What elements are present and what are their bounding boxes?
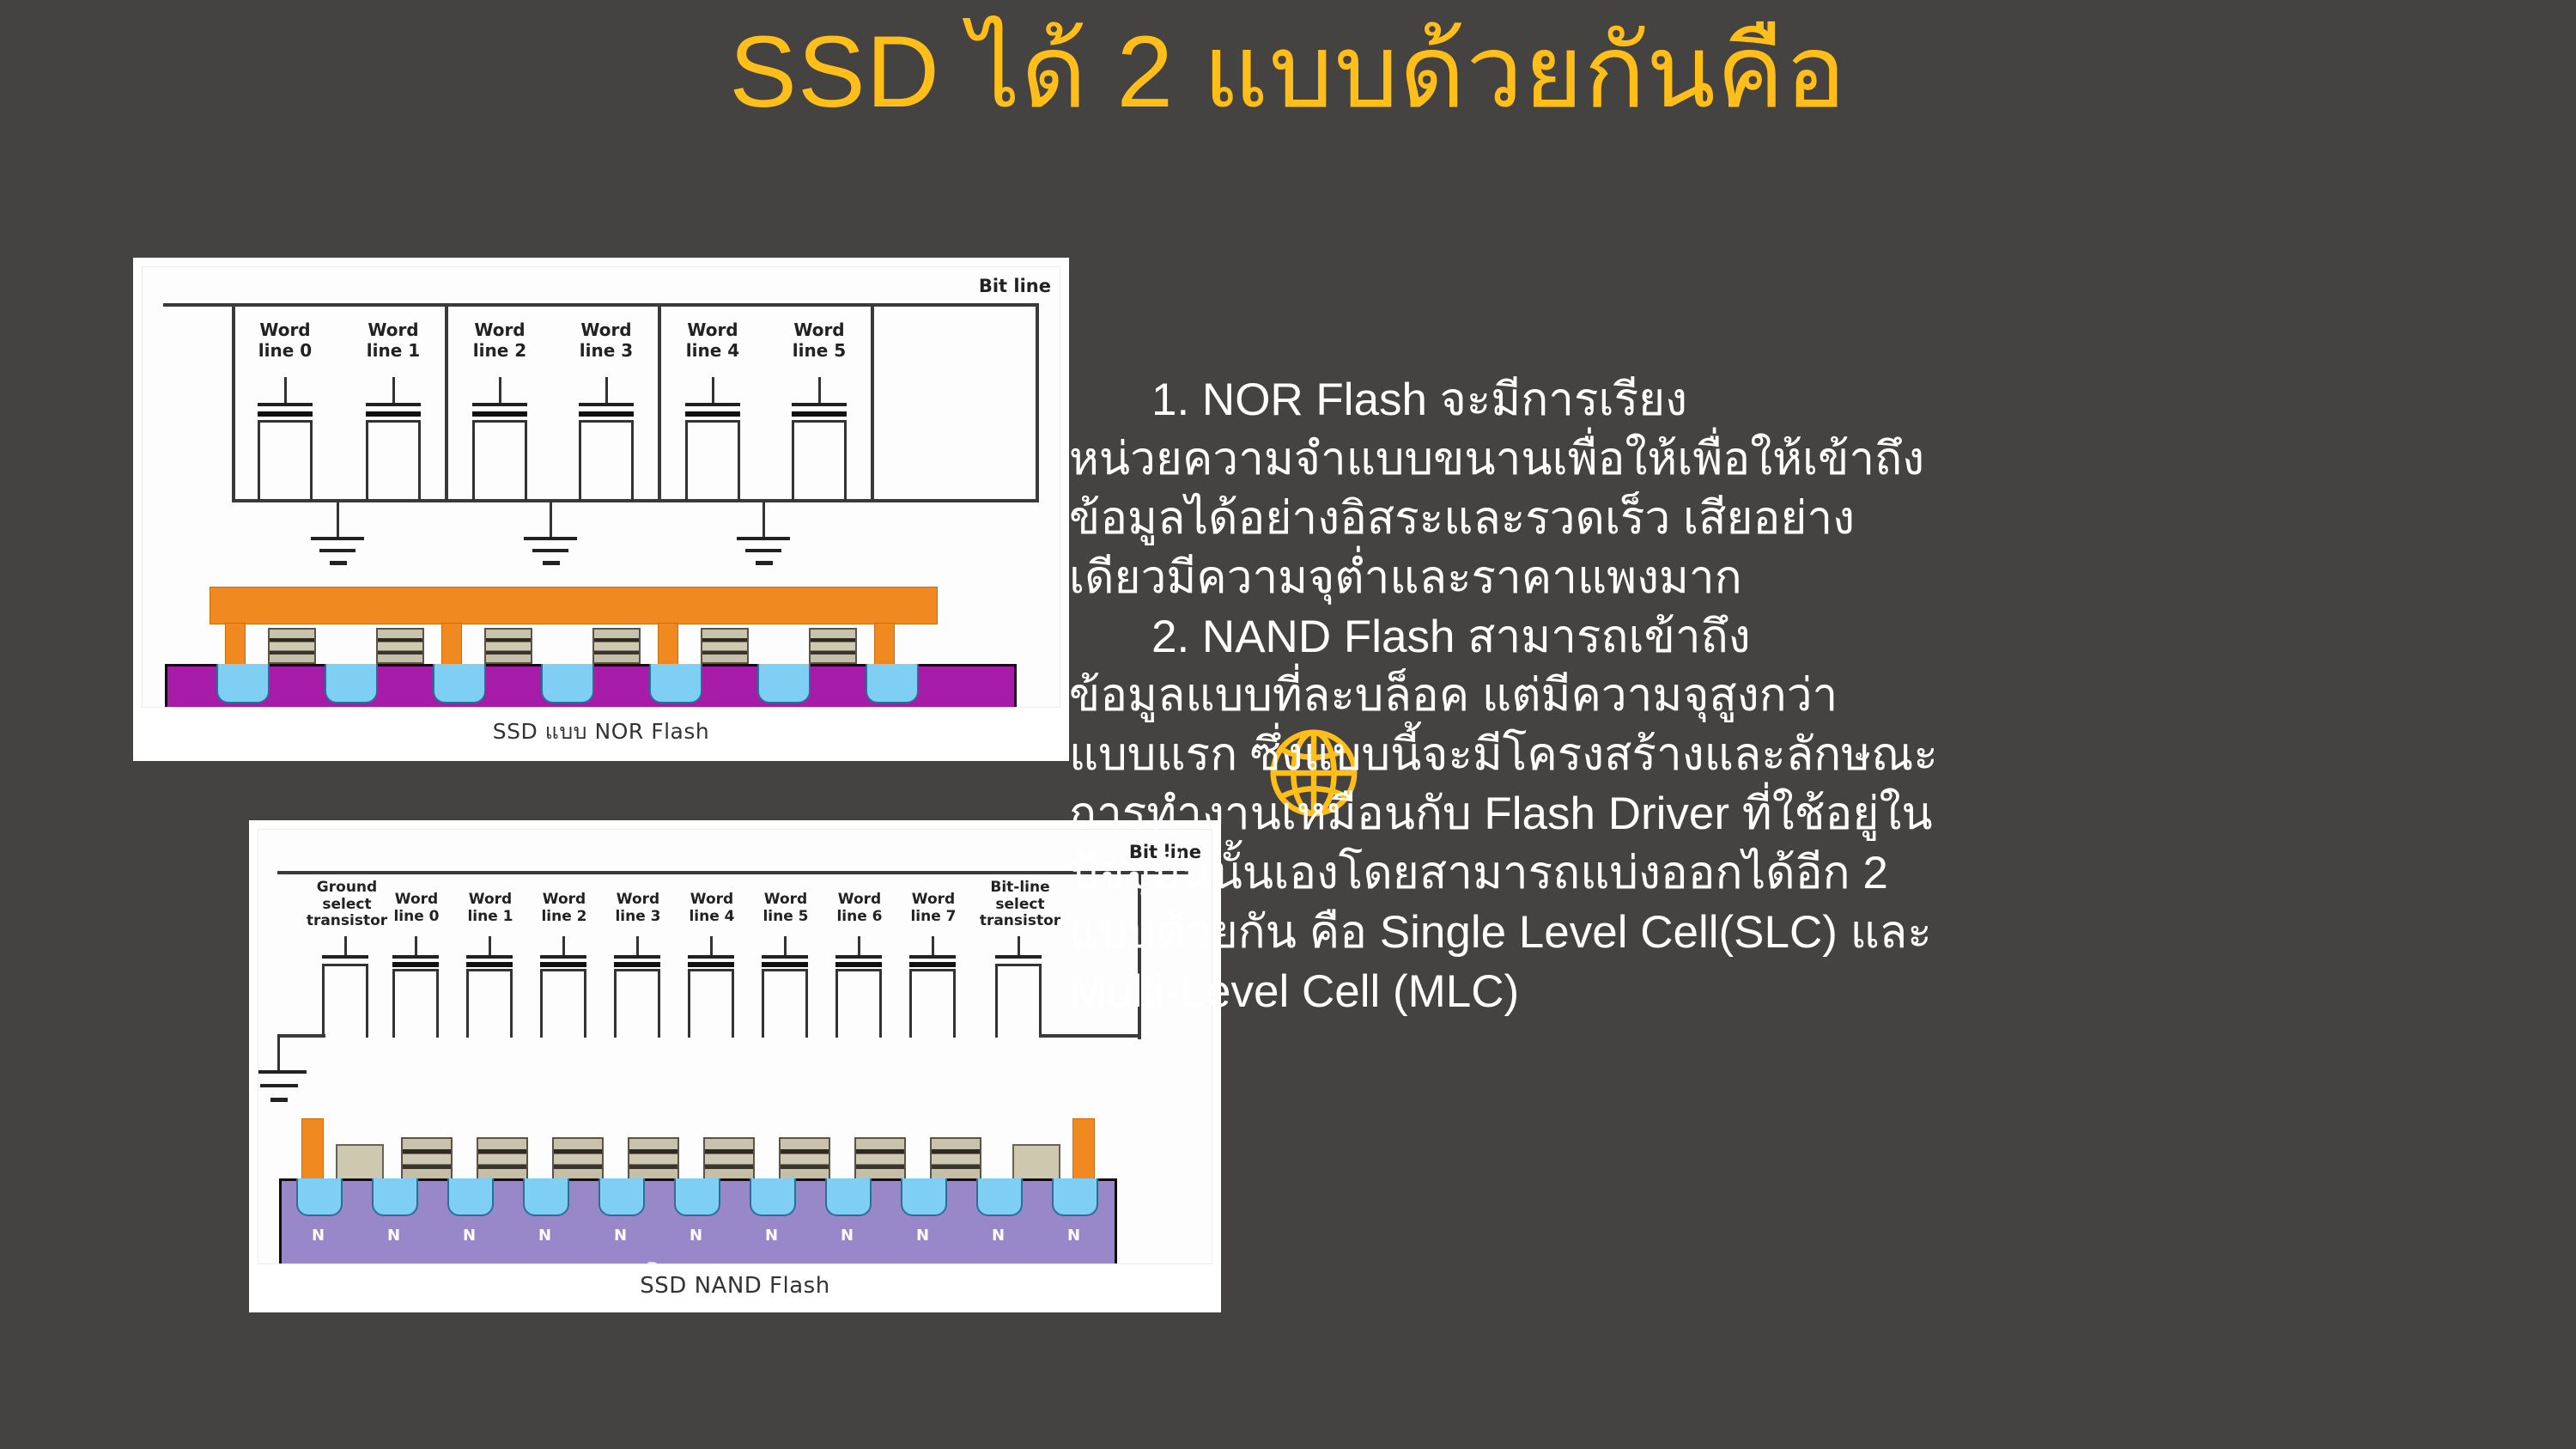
nand-gnd-stem — [277, 1034, 280, 1072]
nand-wl-trench-5 — [762, 969, 808, 1038]
nor-word-line-1: Wordline 1 — [342, 320, 445, 361]
body-line-8: ปัจจุบันนั้นเองโดยสามารถแบ่งออกได้อีก 2 — [1069, 844, 2576, 904]
nand-word-line-3: Wordline 3 — [598, 892, 677, 925]
nand-wl-plate-7 — [909, 955, 956, 959]
nand-wl-plate-3 — [614, 955, 660, 959]
nand-wl-fg-4 — [688, 962, 734, 967]
nor-cell-gate-2 — [484, 628, 532, 664]
nor-cell-gate-5 — [809, 628, 857, 664]
nand-well-8 — [901, 1178, 947, 1216]
nand-n-label-5: N — [690, 1227, 702, 1245]
nor-word-line-2: Wordline 2 — [448, 320, 551, 361]
body-line-2: ข้อมูลได้อย่างอิสระและรวดเร็ว เสียอย่าง — [1069, 490, 2576, 549]
nor-pair-rail-3 — [871, 499, 1039, 502]
nand-n-label-10: N — [1067, 1227, 1080, 1245]
nor-trench-4 — [685, 420, 740, 501]
nand-bs-trench — [995, 964, 1042, 1038]
nor-gnd-bar-1c — [543, 561, 560, 565]
nor-gnd-bar-0a — [311, 537, 364, 540]
nor-well-3 — [541, 664, 594, 703]
nand-wl-plate-2 — [540, 955, 586, 959]
nor-word-line-0: Wordline 0 — [234, 320, 337, 361]
body-line-9: แบบด้วยกัน คือ Single Level Cell(SLC) แล… — [1069, 904, 2576, 963]
nor-trench-3 — [579, 420, 634, 501]
body-line-7: การทำงานเหมือนกับ Flash Driver ที่ใช้อยู… — [1069, 785, 2576, 844]
nor-word-line-5: Wordline 5 — [768, 320, 871, 361]
nor-gate-stem-0 — [284, 377, 287, 405]
nand-n-label-8: N — [916, 1227, 929, 1245]
nor-cell-gate-4 — [701, 628, 749, 664]
nand-bs-plate — [995, 955, 1042, 959]
nand-gnd-bar-b — [260, 1084, 298, 1087]
nor-cell-gate-0 — [268, 628, 316, 664]
nand-bs-stem — [1018, 936, 1020, 957]
nand-wl-stem-2 — [562, 936, 565, 957]
nand-wl-stem-0 — [415, 936, 417, 957]
nand-wl-plate-6 — [835, 955, 882, 959]
nor-float-gate-1 — [366, 411, 421, 417]
nor-well-2 — [433, 664, 486, 703]
nand-n-label-7: N — [841, 1227, 854, 1245]
nand-wl-fg-5 — [762, 962, 808, 967]
nand-word-line-5: Wordline 5 — [746, 892, 825, 925]
nor-word-line-4: Wordline 4 — [661, 320, 764, 361]
nand-word-line-2: Wordline 2 — [525, 892, 604, 925]
nor-gate-stem-4 — [712, 377, 714, 405]
nand-wl-fg-1 — [466, 962, 513, 967]
body-line-10: Multi-Level Cell (MLC) — [1069, 963, 2576, 1022]
nor-trench-0 — [258, 420, 313, 501]
nor-bit-line — [163, 303, 1039, 307]
nor-metal-via-0 — [225, 623, 246, 669]
nand-wl-fg-3 — [614, 962, 660, 967]
nor-float-gate-5 — [792, 411, 847, 417]
nor-cell-gate-1 — [376, 628, 424, 664]
nand-well-7 — [825, 1178, 872, 1216]
nor-right-rail — [1036, 303, 1039, 502]
nand-word-line-1: Wordline 1 — [451, 892, 530, 925]
nand-metal-via-left — [301, 1118, 324, 1182]
nand-cell-gate-3 — [628, 1137, 679, 1180]
nor-gate-stem-1 — [392, 377, 395, 405]
nand-cell-gate-0 — [401, 1137, 453, 1180]
nor-metal-via-2 — [658, 623, 678, 669]
nand-gs-plate — [322, 955, 368, 959]
nand-gnd-bar-a — [258, 1070, 307, 1074]
nand-p-label: P — [647, 1259, 659, 1264]
nor-figure-caption: SSD แบบ NOR Flash — [133, 708, 1069, 761]
nand-wl-stem-5 — [784, 936, 787, 957]
nor-gate-plate-2 — [472, 403, 527, 406]
nor-float-gate-3 — [579, 411, 634, 417]
nor-gate-stem-5 — [818, 377, 821, 405]
nor-gnd-stem-0 — [337, 502, 339, 539]
nand-n-label-0: N — [312, 1227, 325, 1245]
nand-wl-trench-1 — [466, 969, 513, 1038]
nand-cell-gate-1 — [477, 1137, 528, 1180]
nand-n-label-4: N — [614, 1227, 627, 1245]
nand-cell-gate-2 — [552, 1137, 604, 1180]
nand-gs-stem — [344, 936, 347, 957]
body-line-5: ข้อมูลแบบที่ละบล็อค แต่มีความจุสูงกว่า — [1069, 667, 2576, 726]
nand-well-9 — [976, 1178, 1023, 1216]
nand-wl-plate-5 — [762, 955, 808, 959]
nor-gate-plate-5 — [792, 403, 847, 406]
nand-well-4 — [598, 1178, 645, 1216]
nand-wl-trench-6 — [835, 969, 882, 1038]
nor-metal-bitline — [210, 587, 938, 624]
nor-gate-plate-4 — [685, 403, 740, 406]
nor-gnd-bar-2c — [756, 561, 773, 565]
nand-well-5 — [674, 1178, 720, 1216]
nor-trench-5 — [792, 420, 847, 501]
nand-wl-plate-0 — [392, 955, 439, 959]
nor-well-6 — [866, 664, 919, 703]
nand-wl-trench-3 — [614, 969, 660, 1038]
nor-gnd-bar-0c — [330, 561, 347, 565]
nand-well-3 — [523, 1178, 569, 1216]
nand-well-2 — [447, 1178, 494, 1216]
nor-float-gate-2 — [472, 411, 527, 417]
nand-cell-gate-4 — [703, 1137, 755, 1180]
body-text-block: 1. NOR Flash จะมีการเรียง หน่วยความจำแบบ… — [1069, 371, 2576, 1022]
slide-canvas: SSD ได้ 2 แบบด้วยกันคือ Bit line Wordlin… — [0, 0, 2576, 1449]
nand-n-label-2: N — [463, 1227, 476, 1245]
nor-branch-rail-3 — [871, 303, 874, 502]
nand-n-label-6: N — [765, 1227, 778, 1245]
nand-well-1 — [372, 1178, 418, 1216]
nor-gnd-bar-2b — [745, 549, 781, 552]
nand-well-6 — [750, 1178, 796, 1216]
nand-wl-trench-0 — [392, 969, 439, 1038]
nor-schematic: Bit line Wordline 0 Wordline 1 — [142, 266, 1060, 708]
nand-word-line-0: Wordline 0 — [377, 892, 456, 925]
nor-gnd-bar-1b — [532, 549, 568, 552]
nor-well-0 — [216, 664, 270, 703]
nor-cell-gate-3 — [592, 628, 641, 664]
nand-well-0 — [296, 1178, 343, 1216]
nand-word-line-7: Wordline 7 — [894, 892, 973, 925]
nand-figure-caption: SSD NAND Flash — [249, 1264, 1221, 1312]
nand-gnd-bar-c — [270, 1098, 288, 1102]
figure-nor-flash: Bit line Wordline 0 Wordline 1 — [133, 258, 1069, 761]
nand-cell-gate-6 — [854, 1137, 906, 1180]
nand-cell-gate-7 — [930, 1137, 981, 1180]
nand-metal-via-right — [1072, 1118, 1095, 1182]
nand-n-label-3: N — [538, 1227, 551, 1245]
nand-wl-fg-7 — [909, 962, 956, 967]
nand-well-10 — [1052, 1178, 1098, 1216]
nor-trench-1 — [366, 420, 421, 501]
nand-wl-plate-4 — [688, 955, 734, 959]
nand-n-label-9: N — [992, 1227, 1005, 1245]
nand-gs-trench — [322, 964, 368, 1038]
body-line-3: เดียวมีความจุต่ำและราคาแพงมาก — [1069, 549, 2576, 608]
nor-gnd-bar-0b — [319, 549, 355, 552]
nor-gnd-bar-1a — [524, 537, 577, 540]
nor-gate-stem-3 — [605, 377, 608, 405]
body-line-1: หน่วยความจำแบบขนานเพื่อให้เพื่อให้เข้าถึ… — [1069, 430, 2576, 490]
nor-trench-2 — [472, 420, 527, 501]
nand-select-gate-left — [336, 1144, 384, 1180]
nor-float-gate-4 — [685, 411, 740, 417]
nand-wl-trench-4 — [688, 969, 734, 1038]
body-line-0: 1. NOR Flash จะมีการเรียง — [1069, 371, 2576, 430]
nand-wl-trench-2 — [540, 969, 586, 1038]
nand-wl-plate-1 — [466, 955, 513, 959]
nor-word-line-3: Wordline 3 — [555, 320, 658, 361]
nand-wl-stem-3 — [636, 936, 639, 957]
nand-wl-fg-0 — [392, 962, 439, 967]
nor-gnd-bar-2a — [737, 537, 790, 540]
nor-well-4 — [649, 664, 702, 703]
nand-wl-stem-1 — [489, 936, 491, 957]
nor-gate-stem-2 — [499, 377, 501, 405]
nand-word-line-4: Wordline 4 — [672, 892, 751, 925]
nor-float-gate-0 — [258, 411, 313, 417]
nor-gate-plate-0 — [258, 403, 313, 406]
body-line-4: 2. NAND Flash สามารถเข้าถึง — [1069, 608, 2576, 667]
nor-bit-line-label: Bit line — [979, 276, 1051, 296]
nand-n-label-1: N — [387, 1227, 400, 1245]
nand-wl-stem-4 — [710, 936, 713, 957]
nor-gnd-stem-1 — [550, 502, 552, 539]
nor-gate-plate-1 — [366, 403, 421, 406]
nand-cell-gate-5 — [779, 1137, 830, 1180]
nand-wl-trench-7 — [909, 969, 956, 1038]
nor-gnd-stem-2 — [762, 502, 765, 539]
page-title: SSD ได้ 2 แบบด้วยกันคือ — [0, 15, 2576, 129]
nand-wl-stem-7 — [932, 936, 934, 957]
nor-well-5 — [757, 664, 811, 703]
nand-bit-line — [277, 871, 1191, 874]
nor-gate-plate-3 — [579, 403, 634, 406]
nand-word-line-6: Wordline 6 — [820, 892, 899, 925]
nor-metal-via-3 — [874, 623, 895, 669]
nand-wl-stem-6 — [858, 936, 860, 957]
nand-wl-fg-6 — [835, 962, 882, 967]
nand-bs-rail — [1040, 1034, 1139, 1038]
nand-select-gate-right — [1012, 1144, 1060, 1180]
nand-wl-fg-2 — [540, 962, 586, 967]
body-line-6: แบบแรก ซึ่งแบบนี้จะมีโครงสร้างและลักษณะ — [1069, 726, 2576, 785]
nand-bitline-select-label: Bit-lineselecttransistor — [966, 880, 1074, 930]
nor-metal-via-1 — [441, 623, 462, 669]
nor-well-1 — [325, 664, 378, 703]
nand-gnd-rail — [277, 1034, 325, 1038]
